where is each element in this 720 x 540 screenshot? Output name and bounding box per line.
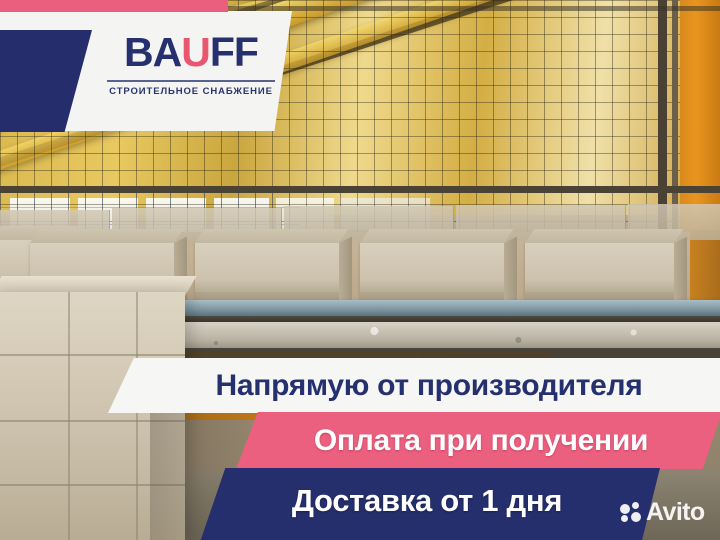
logo-wordmark: BAUFF xyxy=(96,32,286,73)
banner-text: Напрямую от производителя xyxy=(188,369,643,403)
logo-tagline: СТРОИТЕЛЬНОЕ СНАБЖЕНИЕ xyxy=(96,86,286,97)
avito-label: Avito xyxy=(646,500,705,525)
steel-post xyxy=(658,0,667,236)
logo-part-ff: FF xyxy=(210,29,258,75)
banner-delivery-from-1-day: Доставка от 1 дня xyxy=(200,468,660,540)
promo-image: BAUFF СТРОИТЕЛЬНОЕ СНАБЖЕНИЕ Напрямую от… xyxy=(0,0,720,540)
logo-divider xyxy=(107,80,275,82)
logo-part-ba: BA xyxy=(124,29,181,75)
header-accent-stripe xyxy=(0,0,228,12)
banner-text: Доставка от 1 дня xyxy=(292,483,568,527)
logo-part-u: U xyxy=(181,29,210,75)
avito-dots-icon xyxy=(620,502,642,523)
structural-rail xyxy=(0,186,720,193)
brand-logo: BAUFF СТРОИТЕЛЬНОЕ СНАБЖЕНИЕ xyxy=(96,32,286,97)
avito-watermark: Avito xyxy=(620,500,705,525)
banner-payment-on-delivery: Оплата при получении xyxy=(236,412,720,469)
banner-direct-from-manufacturer: Напрямую от производителя xyxy=(108,358,720,413)
steel-post xyxy=(672,0,678,236)
banner-text: Оплата при получении xyxy=(310,424,648,458)
